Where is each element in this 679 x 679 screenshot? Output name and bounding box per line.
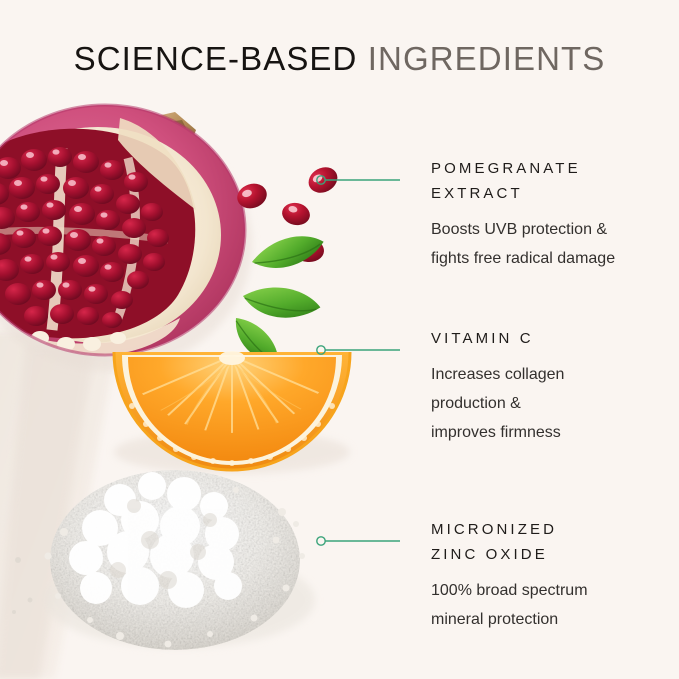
title-primary: SCIENCE-BASED	[74, 40, 358, 77]
circle-marker-icon	[317, 176, 325, 184]
callout-text-pomegranate: POMEGRANATEEXTRACT Boosts UVB protection…	[431, 156, 679, 273]
ingredient-name-line: EXTRACT	[431, 185, 523, 202]
ingredient-desc-vitamin-c: Increases collagenproduction &improves f…	[431, 360, 679, 447]
pomegranate-half-photo	[0, 105, 252, 371]
ingredients-infographic: SCIENCE-BASED INGREDIENTS POMEGRANATEEXT…	[0, 0, 679, 679]
ingredient-name-vitamin-c: VITAMIN C	[431, 326, 679, 351]
ingredient-desc-zinc-oxide: 100% broad spectrummineral protection	[431, 576, 679, 634]
ingredient-desc-pomegranate: Boosts UVB protection &fights free radic…	[431, 215, 679, 273]
ingredient-name-pomegranate: POMEGRANATEEXTRACT	[431, 156, 679, 206]
desc-line: 100% broad spectrum	[431, 576, 679, 605]
ingredient-name-line: MICRONIZED	[431, 521, 557, 538]
connector-line-zinc-oxide	[316, 529, 416, 553]
desc-line: Boosts UVB protection &	[431, 215, 679, 244]
circle-marker-icon	[317, 346, 325, 354]
ingredient-name-line: ZINC OXIDE	[431, 546, 548, 563]
connector-line-vitamin-c	[316, 338, 416, 362]
ingredient-name-line: POMEGRANATE	[431, 160, 581, 177]
orange-slice-photo	[114, 351, 350, 474]
callout-text-vitamin-c: VITAMIN C Increases collagenproduction &…	[431, 326, 679, 447]
callout-text-zinc-oxide: MICRONIZEDZINC OXIDE 100% broad spectrum…	[431, 517, 679, 634]
desc-line: Increases collagen	[431, 360, 679, 389]
desc-line: mineral protection	[431, 605, 679, 634]
page-title: SCIENCE-BASED INGREDIENTS	[0, 40, 679, 78]
title-secondary: INGREDIENTS	[368, 40, 606, 77]
desc-line: improves firmness	[431, 418, 679, 447]
connector-line-pomegranate	[316, 168, 416, 192]
desc-line: fights free radical damage	[431, 244, 679, 273]
circle-marker-icon	[317, 537, 325, 545]
desc-line: production &	[431, 389, 679, 418]
ingredient-name-zinc-oxide: MICRONIZEDZINC OXIDE	[431, 517, 679, 567]
